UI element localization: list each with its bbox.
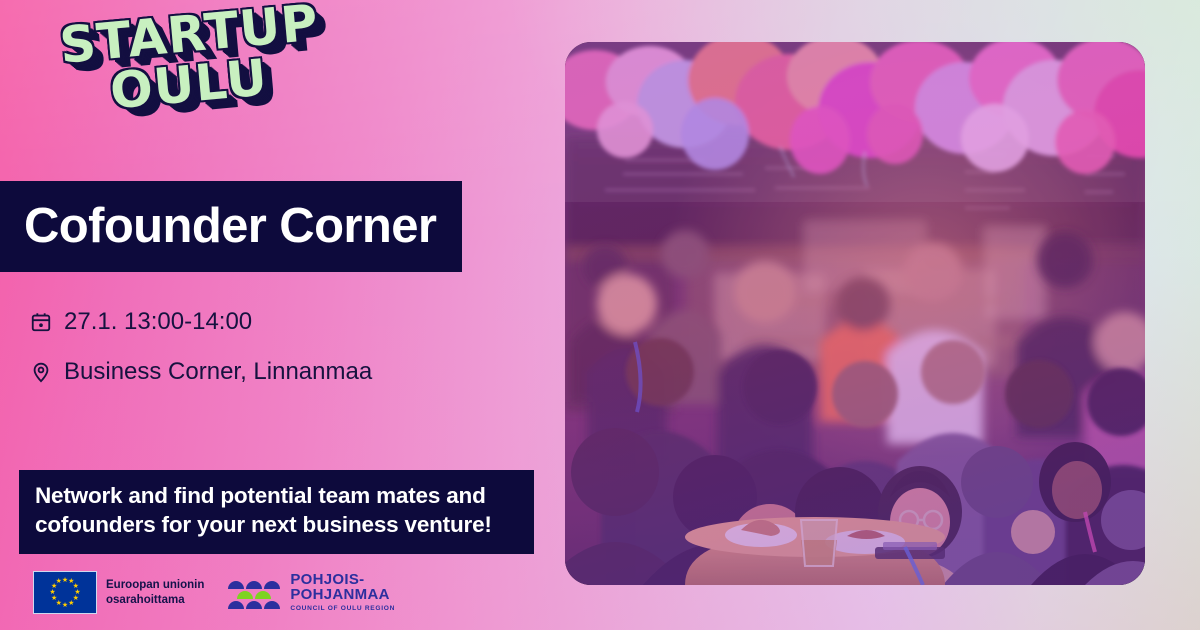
map-pin-icon [30, 361, 52, 383]
eu-star: ★ [51, 595, 58, 602]
event-meta: 27.1. 13:00-14:00 Business Corner, Linna… [30, 308, 530, 408]
eu-funding-line1: Euroopan unionin [106, 578, 204, 593]
eu-funding-logo: ★★★★★★★★★★★★ Euroopan unionin osarahoitt… [33, 571, 204, 614]
funder-logos: ★★★★★★★★★★★★ Euroopan unionin osarahoitt… [33, 571, 395, 614]
eu-star: ★ [55, 578, 62, 585]
event-photo-illustration [565, 42, 1145, 585]
eu-star: ★ [68, 600, 75, 607]
event-title-band: Cofounder Corner [0, 181, 462, 272]
pohjois-pohjanmaa-text: POHJOIS- POHJANMAA COUNCIL OF OULU REGIO… [290, 573, 395, 611]
page-title: Cofounder Corner [24, 202, 436, 251]
event-datetime-text: 27.1. 13:00-14:00 [64, 308, 252, 336]
pohjois-pohjanmaa-arcs-icon [226, 575, 282, 611]
eu-funding-line2: osarahoittama [106, 593, 204, 608]
logo-line-oulu: OULU [108, 53, 295, 113]
eu-star: ★ [49, 589, 56, 596]
event-description-band: Network and find potential team mates an… [19, 470, 534, 554]
region-line2: POHJANMAA [290, 588, 395, 603]
startup-oulu-logo: STARTUP OULU [58, 3, 297, 133]
region-subtitle: COUNCIL OF OULU REGION [290, 605, 395, 612]
pohjois-pohjanmaa-logo: POHJOIS- POHJANMAA COUNCIL OF OULU REGIO… [226, 573, 395, 611]
event-location-row: Business Corner, Linnanmaa [30, 358, 530, 386]
eu-star: ★ [62, 602, 69, 609]
eu-flag-icon: ★★★★★★★★★★★★ [33, 571, 97, 614]
eu-funding-text: Euroopan unionin osarahoittama [106, 578, 204, 607]
event-location-text: Business Corner, Linnanmaa [64, 358, 372, 386]
calendar-icon [30, 311, 52, 333]
event-datetime-row: 27.1. 13:00-14:00 [30, 308, 530, 336]
event-photo [565, 42, 1145, 585]
event-description-text: Network and find potential team mates an… [35, 482, 516, 540]
